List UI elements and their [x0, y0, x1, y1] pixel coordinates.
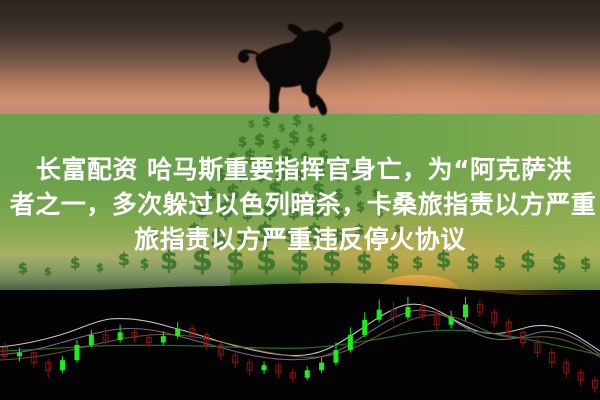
headline-overlay: 长富配资 哈马斯重要指挥官身亡，为“阿克萨洪 者之一，多次躲过以色列暗杀，卡桑旅…	[0, 152, 600, 257]
candlestick-chart	[0, 275, 600, 400]
headline-line-3: 旅指责以方严重违反停火协议	[0, 222, 600, 257]
headline-line-2: 者之一，多次躲过以色列暗杀，卡桑旅指责以方严重	[6, 187, 600, 222]
news-thumbnail-image: $ $ $ $ $ $ $ $ $ $ $ $ $ $ $ $ $ $ $ $ …	[0, 0, 600, 400]
bull-silhouette-icon	[232, 8, 372, 126]
headline-line-1: 长富配资 哈马斯重要指挥官身亡，为“阿克萨洪	[8, 152, 600, 187]
